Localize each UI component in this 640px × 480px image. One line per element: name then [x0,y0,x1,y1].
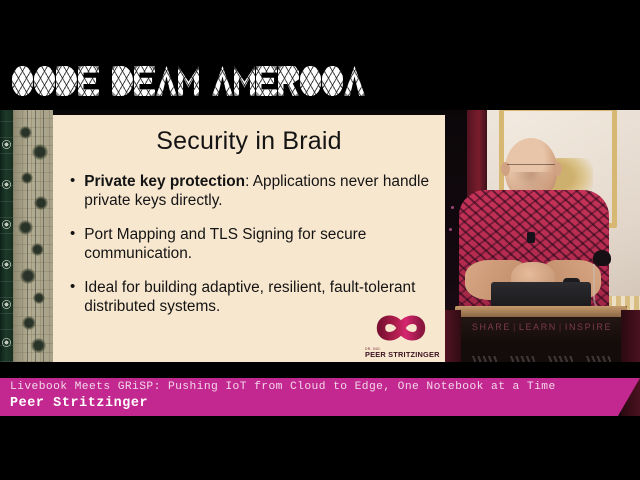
lower-third-caption: Livebook Meets GRiSP: Pushing IoT from C… [0,378,640,416]
podium-slogan-share: SHARE [472,322,511,332]
bullet-marker: • [70,225,75,264]
brand-letter-e3: E [256,66,277,96]
video-player-frame: C O D E B E A M A M E R I C A [0,0,640,480]
sponsor-name: PEER STRITZINGER [365,350,440,359]
podium-slogan-learn: LEARN [519,322,557,332]
bullet-text: Private key protection: Applications nev… [84,172,431,211]
bullet-marker: • [70,278,75,317]
bullet-text: Port Mapping and TLS Signing for secure … [84,225,431,264]
brand-letter-a2: A [212,66,233,96]
podium-surface [455,306,627,317]
slide-bullet-list: • Private key protection: Applications n… [70,172,431,330]
podium-slogan: SHARE|LEARN|INSPIRE [469,322,615,332]
brand-letter-e: E [78,66,99,96]
brand-letter-c2: C [322,66,343,96]
brand-letter-m: M [178,66,199,96]
brand-letter-m2: M [234,66,255,96]
pcb-edge-decoration [0,110,13,362]
speaker-name: Peer Stritzinger [10,396,148,411]
microphone-stand [591,250,615,312]
brand-word-code: C O D E [12,66,99,96]
bullet-text: Ideal for building adaptive, resilient, … [84,278,431,317]
brand-letter-d: D [56,66,77,96]
podium-slogan-separator-1: | [513,322,517,332]
bullet-item: • Ideal for building adaptive, resilient… [70,278,431,317]
letterbox-band [0,362,640,378]
brand-letter-a3: A [344,66,365,96]
brand-letter-b: B [112,66,133,96]
top-brand-bar: C O D E B E A M A M E R I C A [0,0,640,110]
microphone-arm [593,264,608,312]
brand-letter-a: A [156,66,177,96]
sponsor-logo: DR. ING. PEER STRITZINGER [360,312,442,360]
bottom-letterbox [0,416,640,480]
brand-letter-i: I [300,66,321,96]
bullet-rest: Ideal for building adaptive, resilient, … [84,279,415,315]
code-beam-america-logo: C O D E B E A M A M E R I C A [12,60,365,102]
talk-title: Livebook Meets GRiSP: Pushing IoT from C… [10,381,556,393]
brand-letter-r: R [278,66,299,96]
brand-word-america: A M E R I C A [212,66,365,96]
slide-title: Security in Braid [53,127,445,156]
brand-letter-c: C [12,66,33,96]
brand-letter-e2: E [134,66,155,96]
podium-slogan-inspire: INSPIRE [565,322,612,332]
infinity-loop-icon [366,313,436,343]
bullet-marker: • [70,172,75,211]
bullet-rest: Port Mapping and TLS Signing for secure … [84,226,366,262]
bullet-item: • Port Mapping and TLS Signing for secur… [70,225,431,264]
bullet-lead: Private key protection [84,173,245,190]
podium-slogan-separator-2: | [559,322,563,332]
circuit-board-texture [13,110,53,362]
presentation-slide: Security in Braid • Private key protecti… [53,115,445,362]
brand-word-beam: B E A M [112,66,199,96]
bullet-item: • Private key protection: Applications n… [70,172,431,211]
brand-letter-o: O [34,66,55,96]
lapel-microphone [527,232,535,243]
